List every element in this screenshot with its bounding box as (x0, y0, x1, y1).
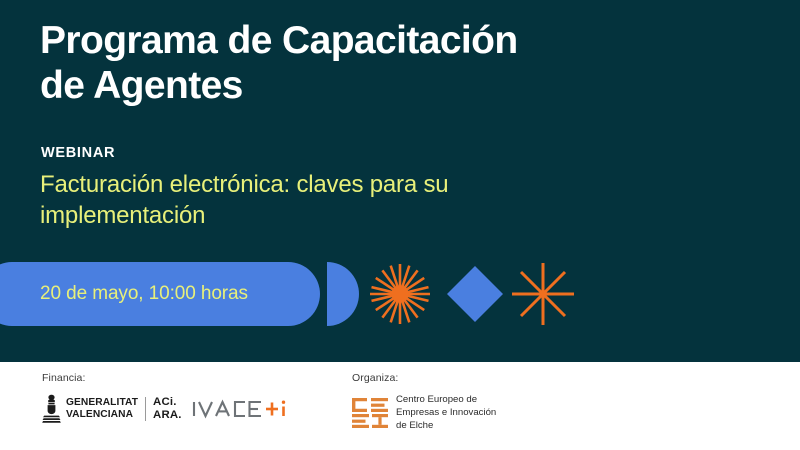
ivace-logo-icon (191, 397, 291, 421)
half-circle-icon (327, 262, 359, 326)
aci-ara-text: ACi. ARA. (153, 396, 182, 422)
ceei-name-text: Centro Europeo de Empresas e Innovación … (396, 394, 496, 433)
footer: Financia: GENERALITAT VALENCIANA ACi. AR… (0, 362, 800, 450)
asterisk-icon (508, 262, 578, 326)
organiza-block: Organiza: (352, 372, 496, 433)
financia-label: Financia: (42, 372, 291, 384)
ceei-logo-icon (352, 397, 388, 429)
webinar-subtitle: Facturación electrónica: claves para su … (40, 170, 580, 231)
eyebrow-label: WEBINAR (41, 145, 115, 161)
generalitat-emblem-icon (42, 394, 61, 424)
financia-block: Financia: GENERALITAT VALENCIANA ACi. AR… (42, 372, 291, 424)
organiza-logos: Centro Europeo de Empresas e Innovación … (352, 394, 496, 433)
logo-divider-1 (145, 397, 146, 421)
page-title: Programa de Capacitación de Agentes (40, 18, 680, 108)
date-text: 20 de mayo, 10:00 horas (40, 262, 248, 326)
date-band: 20 de mayo, 10:00 horas (0, 262, 800, 326)
financia-logos: GENERALITAT VALENCIANA ACi. ARA. (42, 394, 291, 424)
sunburst-icon (368, 262, 432, 326)
webinar-poster: Programa de Capacitación de Agentes WEBI… (0, 0, 800, 450)
diamond-icon (443, 262, 507, 326)
generalitat-valenciana-text: GENERALITAT VALENCIANA (66, 397, 138, 421)
organiza-label: Organiza: (352, 372, 496, 384)
